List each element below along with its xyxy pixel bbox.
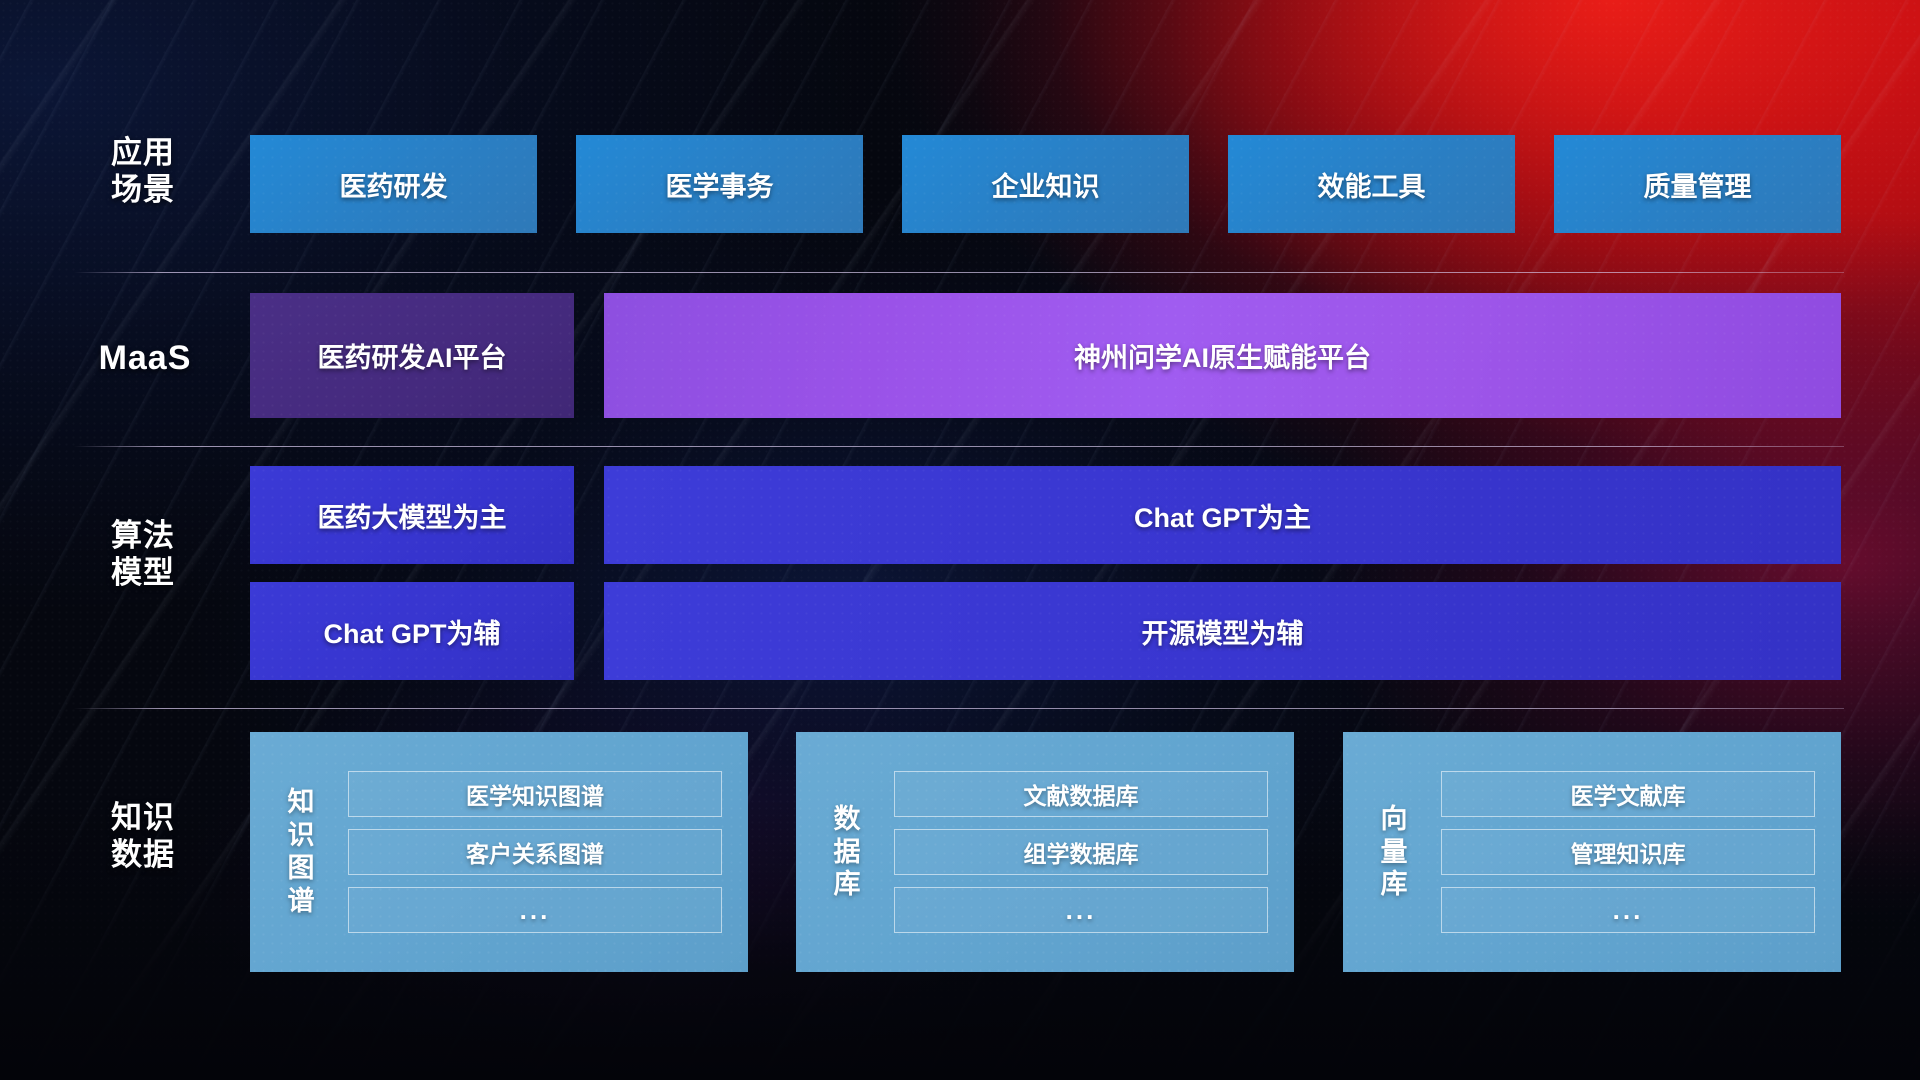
row-label-maas: MaaS [72, 338, 218, 378]
knowledge-item-medical-graph[interactable]: 医学知识图谱 [348, 771, 722, 817]
algo-box-pharma-model-primary-label: 医药大模型为主 [318, 496, 507, 535]
row-label-algorithm: 算法 模型 [78, 518, 208, 591]
divider-maas-algorithm [74, 446, 1844, 447]
row-label-application-line-2: 场景 [78, 172, 208, 209]
algo-box-opensource-secondary[interactable]: 开源模型为辅 [604, 582, 1841, 680]
algo-box-chatgpt-primary-label: Chat GPT为主 [1134, 496, 1311, 535]
app-box-3[interactable]: 企业知识 [902, 135, 1189, 233]
knowledge-panel-graph-side-label: 知 识 图 谱 [268, 786, 334, 918]
algo-box-chatgpt-secondary[interactable]: Chat GPT为辅 [250, 582, 574, 680]
knowledge-panel-database[interactable]: 数 据 库 文献数据库 组学数据库 ... [796, 732, 1294, 972]
knowledge-panel-vector[interactable]: 向 量 库 医学文献库 管理知识库 ... [1343, 732, 1841, 972]
knowledge-panel-graph-side-char-2: 识 [268, 819, 334, 852]
divider-algorithm-knowledge [74, 708, 1844, 709]
app-box-2[interactable]: 医学事务 [576, 135, 863, 233]
knowledge-panel-vector-side-char-3: 库 [1361, 868, 1427, 901]
knowledge-panel-database-side-char-2: 据 [814, 836, 880, 869]
knowledge-panel-database-side-char-3: 库 [814, 868, 880, 901]
row-label-algorithm-line-1: 算法 [78, 518, 208, 555]
algo-box-pharma-model-primary[interactable]: 医药大模型为主 [250, 466, 574, 564]
row-label-application-line-1: 应用 [78, 135, 208, 172]
knowledge-panel-database-items: 文献数据库 组学数据库 ... [880, 757, 1294, 947]
row-label-knowledge-line-2: 数据 [78, 837, 208, 874]
app-box-2-label: 医学事务 [666, 165, 774, 204]
knowledge-panel-graph-side-char-3: 图 [268, 852, 334, 885]
app-box-4-label: 效能工具 [1318, 165, 1426, 204]
knowledge-item-medical-literature[interactable]: 医学文献库 [1441, 771, 1815, 817]
app-box-1[interactable]: 医药研发 [250, 135, 537, 233]
knowledge-item-literature-db[interactable]: 文献数据库 [894, 771, 1268, 817]
maas-box-shenzhou-platform[interactable]: 神州问学AI原生赋能平台 [604, 293, 1841, 418]
knowledge-panel-vector-side-char-1: 向 [1361, 803, 1427, 836]
knowledge-panel-graph-side-char-4: 谱 [268, 885, 334, 918]
knowledge-panel-database-side-char-1: 数 [814, 803, 880, 836]
knowledge-panel-graph-side-char-1: 知 [268, 786, 334, 819]
architecture-diagram: 应用 场景 医药研发 医学事务 企业知识 效能工具 质量管理 MaaS 医药研发… [0, 0, 1920, 1080]
algo-box-chatgpt-secondary-label: Chat GPT为辅 [323, 612, 500, 651]
algo-box-chatgpt-primary[interactable]: Chat GPT为主 [604, 466, 1841, 564]
row-label-algorithm-line-2: 模型 [78, 555, 208, 592]
knowledge-panel-graph[interactable]: 知 识 图 谱 医学知识图谱 客户关系图谱 ... [250, 732, 748, 972]
knowledge-item-management-knowledge[interactable]: 管理知识库 [1441, 829, 1815, 875]
maas-box-shenzhou-platform-label: 神州问学AI原生赋能平台 [1074, 336, 1371, 375]
knowledge-panel-vector-side-label: 向 量 库 [1361, 803, 1427, 902]
knowledge-item-vector-more[interactable]: ... [1441, 887, 1815, 933]
row-label-knowledge: 知识 数据 [78, 800, 208, 873]
knowledge-panel-database-side-label: 数 据 库 [814, 803, 880, 902]
knowledge-item-customer-graph[interactable]: 客户关系图谱 [348, 829, 722, 875]
knowledge-item-graph-more[interactable]: ... [348, 887, 722, 933]
algo-box-opensource-secondary-label: 开源模型为辅 [1142, 612, 1304, 651]
knowledge-panel-vector-items: 医学文献库 管理知识库 ... [1427, 757, 1841, 947]
app-box-4[interactable]: 效能工具 [1228, 135, 1515, 233]
knowledge-item-database-more[interactable]: ... [894, 887, 1268, 933]
row-label-application: 应用 场景 [78, 135, 208, 208]
divider-application-maas [74, 272, 1844, 273]
maas-box-pharma-platform-label: 医药研发AI平台 [318, 336, 507, 375]
app-box-5[interactable]: 质量管理 [1554, 135, 1841, 233]
app-box-3-label: 企业知识 [992, 165, 1100, 204]
knowledge-panel-graph-items: 医学知识图谱 客户关系图谱 ... [334, 757, 748, 947]
knowledge-item-omics-db[interactable]: 组学数据库 [894, 829, 1268, 875]
app-box-1-label: 医药研发 [340, 165, 448, 204]
knowledge-panel-vector-side-char-2: 量 [1361, 836, 1427, 869]
row-label-maas-line-1: MaaS [72, 338, 218, 378]
app-box-5-label: 质量管理 [1644, 165, 1752, 204]
row-label-knowledge-line-1: 知识 [78, 800, 208, 837]
maas-box-pharma-platform[interactable]: 医药研发AI平台 [250, 293, 574, 418]
